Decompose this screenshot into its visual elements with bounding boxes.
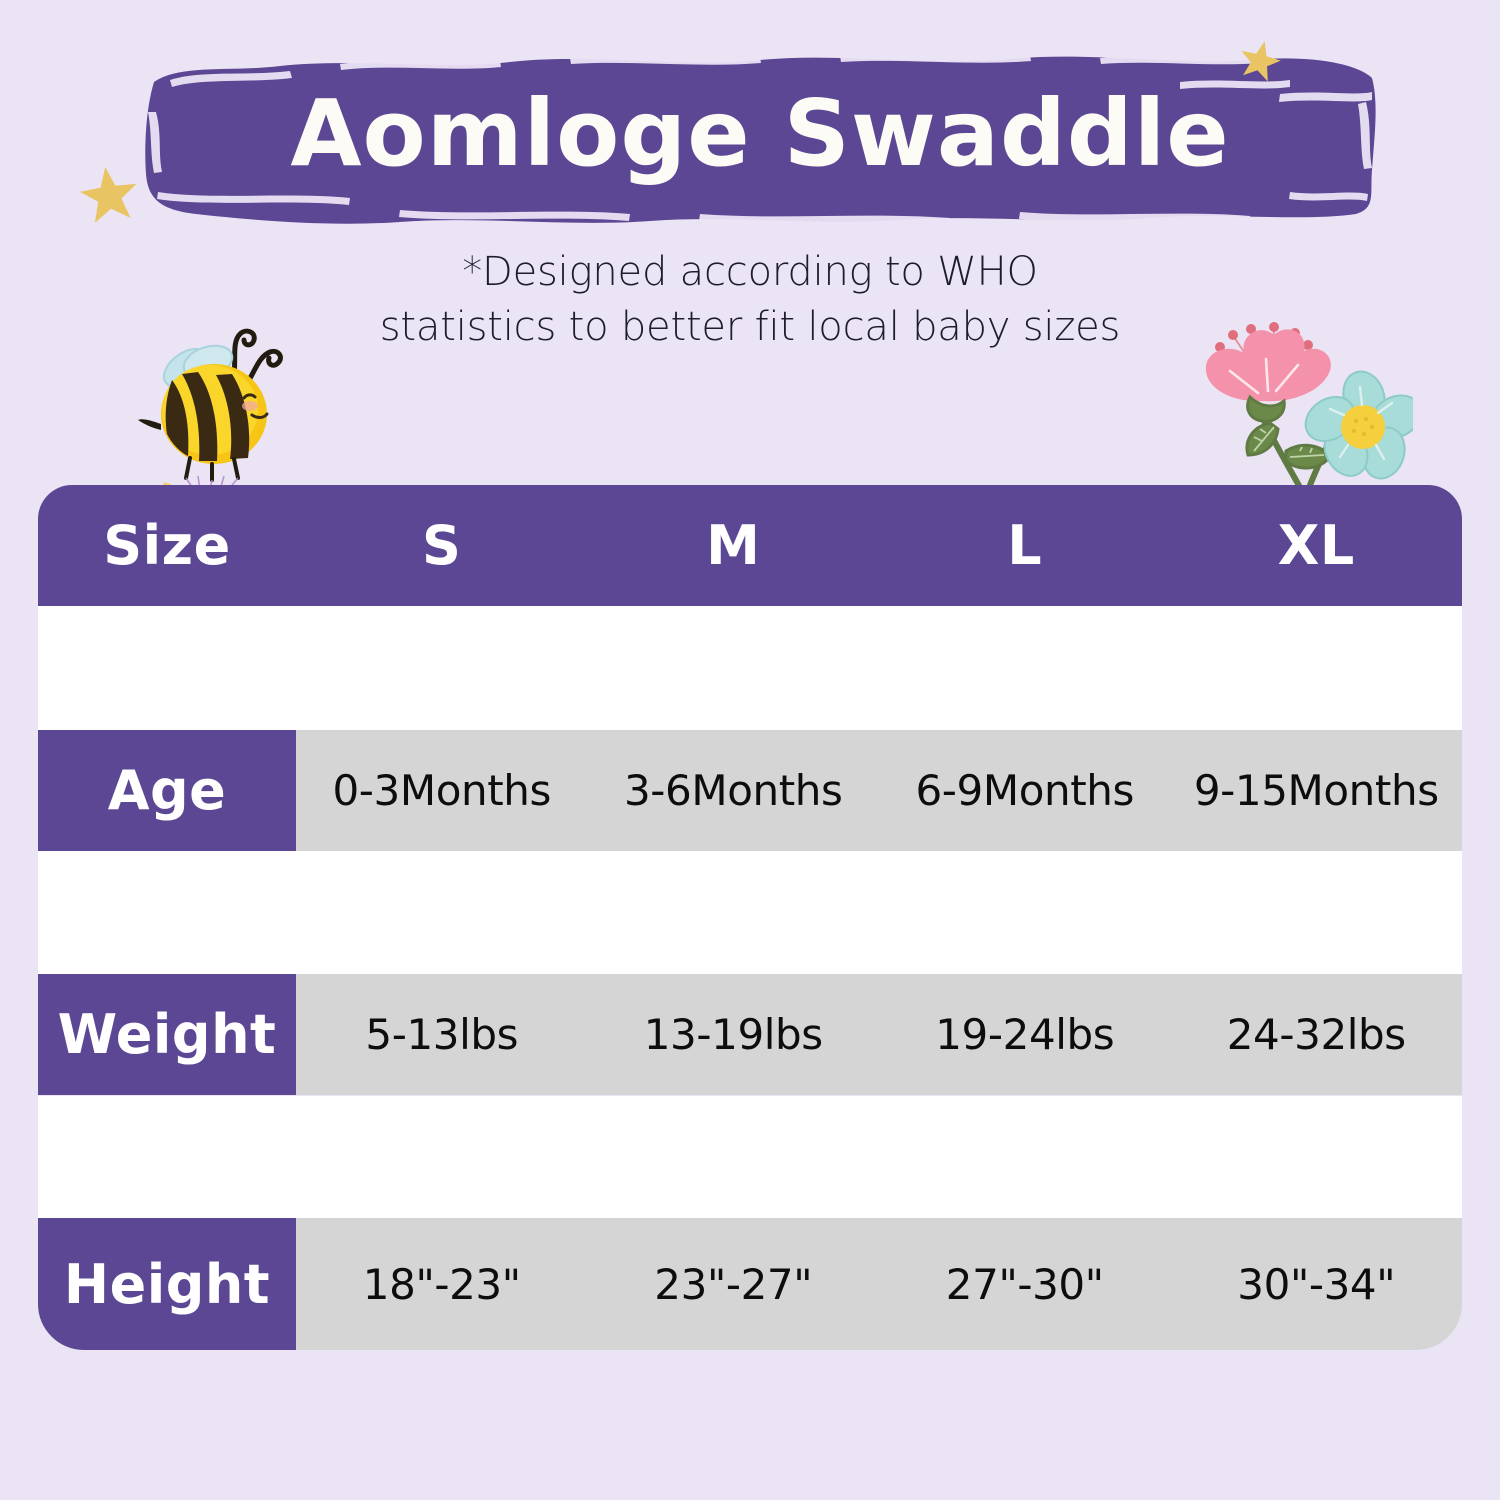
title-banner: Aomloge Swaddle [140, 42, 1380, 232]
cell-age-s: 0-3Months [296, 766, 588, 815]
table-row-height: Height 18"-23" 23"-27" 27"-30" 30"-34" [38, 1218, 1462, 1350]
size-chart-page: Aomloge Swaddle *Designed according to W… [0, 0, 1500, 1500]
cell-age-m: 3-6Months [588, 766, 880, 815]
table-row-weight: Weight 5-13lbs 13-19lbs 19-24lbs 24-32lb… [38, 974, 1462, 1095]
table-header-row: Size S M L XL [38, 485, 1462, 606]
bee-icon [128, 318, 298, 508]
flower-icon [1178, 305, 1413, 505]
size-chart-table: Size S M L XL Age 0-3Months 3-6Months 6-… [38, 485, 1462, 1350]
cell-height-l: 27"-30" [879, 1260, 1171, 1309]
star-icon [74, 159, 144, 229]
page-title: Aomloge Swaddle [140, 42, 1380, 232]
cell-weight-l: 19-24lbs [879, 1010, 1171, 1059]
row-label-age: Age [38, 730, 296, 851]
header-cell-xl: XL [1171, 514, 1463, 577]
cell-weight-s: 5-13lbs [296, 1010, 588, 1059]
table-row-age: Age 0-3Months 3-6Months 6-9Months 9-15Mo… [38, 730, 1462, 851]
cell-weight-xl: 24-32lbs [1171, 1010, 1463, 1059]
header-cell-l: L [879, 514, 1171, 577]
cell-age-xl: 9-15Months [1171, 766, 1463, 815]
subtitle-line-1: *Designed according to WHO [0, 245, 1500, 300]
header-cell-s: S [296, 514, 588, 577]
table-row-spacer [38, 851, 1462, 974]
header-cell-size: Size [38, 514, 296, 577]
table-row-spacer [38, 1096, 1462, 1218]
row-label-height: Height [38, 1218, 296, 1350]
cell-height-xl: 30"-34" [1171, 1260, 1463, 1309]
table-row-spacer [38, 606, 1462, 730]
row-label-weight: Weight [38, 974, 296, 1095]
cell-height-m: 23"-27" [588, 1260, 880, 1309]
header-cell-m: M [588, 514, 880, 577]
cell-weight-m: 13-19lbs [588, 1010, 880, 1059]
cell-height-s: 18"-23" [296, 1260, 588, 1309]
cell-age-l: 6-9Months [879, 766, 1171, 815]
